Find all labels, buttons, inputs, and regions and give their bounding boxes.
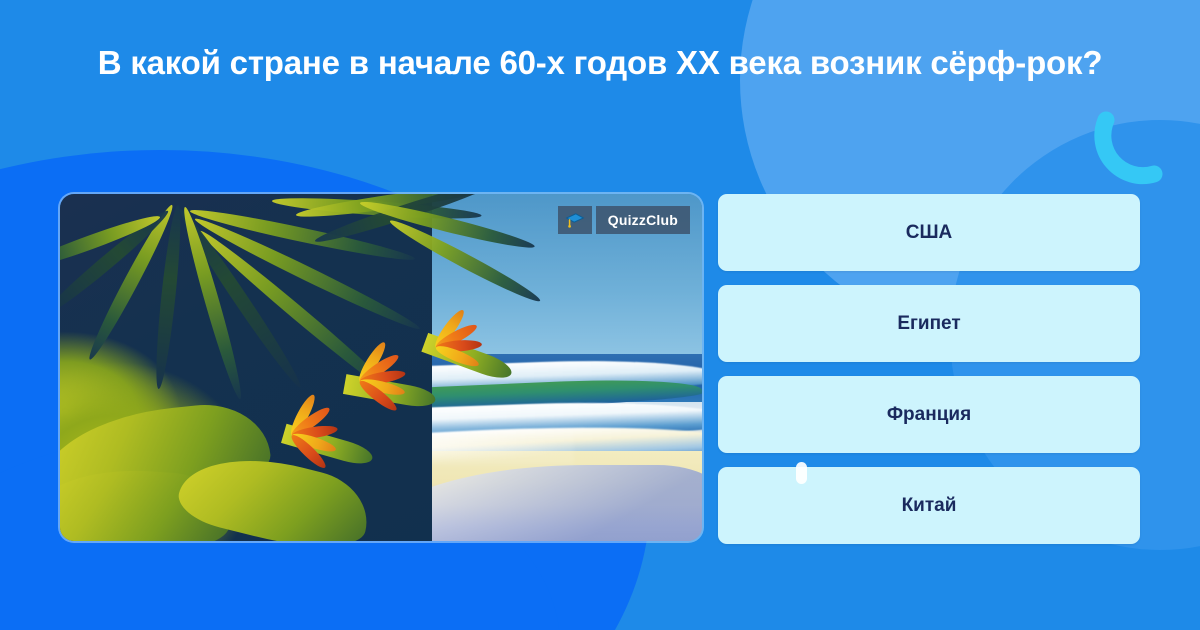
- page-title: В какой стране в начале 60-х годов XX ве…: [60, 42, 1140, 84]
- watermark-brand: QuizzClub: [596, 206, 690, 234]
- scroll-indicator-nub[interactable]: [796, 462, 807, 484]
- question-illustration: QuizzClub: [60, 194, 702, 541]
- watermark-badge: QuizzClub: [558, 206, 690, 234]
- answer-list: США Египет Франция Китай: [718, 194, 1140, 558]
- crescent-arc-decoration: [1092, 104, 1178, 190]
- answer-option-3[interactable]: Франция: [718, 376, 1140, 453]
- graduation-cap-glyph: [565, 212, 585, 229]
- answer-option-1[interactable]: США: [718, 194, 1140, 271]
- graduation-cap-icon: [558, 206, 592, 234]
- beach-painting: [60, 194, 702, 541]
- answer-option-4[interactable]: Китай: [718, 467, 1140, 544]
- answer-option-2[interactable]: Египет: [718, 285, 1140, 362]
- quiz-card: В какой стране в начале 60-х годов XX ве…: [0, 0, 1200, 630]
